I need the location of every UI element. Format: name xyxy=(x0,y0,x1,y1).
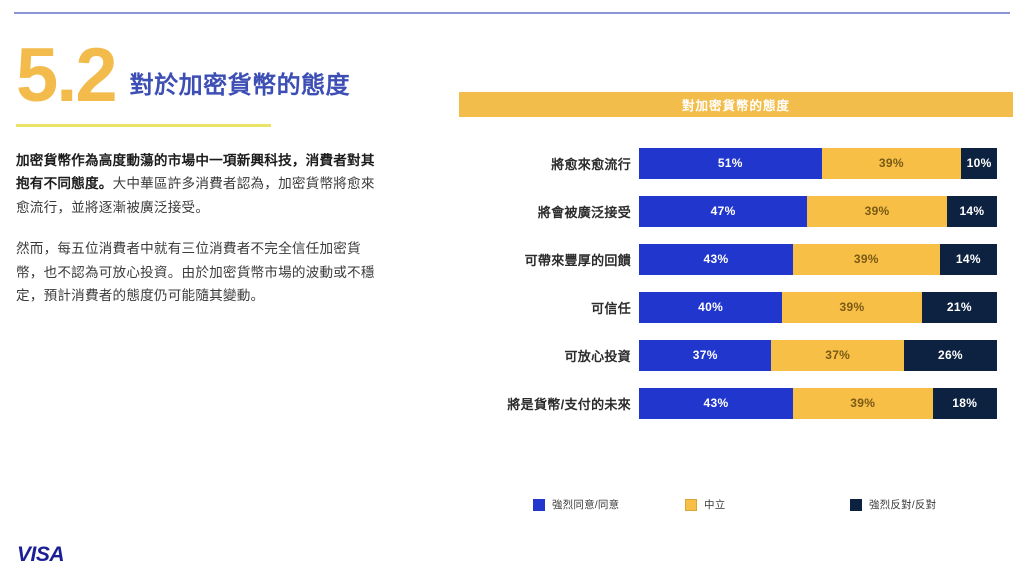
bar-segment-neutral: 39% xyxy=(807,196,947,227)
legend-swatch-icon xyxy=(533,499,545,511)
paragraph-1: 加密貨幣作為高度動蕩的市場中一項新興科技，消費者對其抱有不同態度。大中華區許多消… xyxy=(16,149,384,219)
legend-swatch-icon xyxy=(850,499,862,511)
visa-logo: VISA xyxy=(17,543,64,567)
bar-segment-agree: 43% xyxy=(639,388,793,419)
bar-segment-neutral: 39% xyxy=(793,244,940,275)
legend-item-neutral: 中立 xyxy=(685,497,850,512)
bar-segment-agree: 47% xyxy=(639,196,807,227)
bar-category-label: 將會被廣泛接受 xyxy=(459,202,639,221)
legend-label: 中立 xyxy=(704,497,725,512)
page-title: 對於加密貨幣的態度 xyxy=(130,65,351,110)
attitudes-chart: 對加密貨幣的態度 將愈來愈流行 51% 39% 10% 將會被廣泛接受 47% … xyxy=(459,92,1013,427)
bar-segment-neutral: 39% xyxy=(793,388,933,419)
bar-segment-disagree: 26% xyxy=(904,340,997,371)
bar-segment-disagree: 14% xyxy=(947,196,997,227)
table-row: 可信任 40% 39% 21% xyxy=(459,283,1013,331)
bar-segment-agree: 37% xyxy=(639,340,771,371)
stacked-bar: 43% 39% 14% xyxy=(639,244,997,275)
legend-label: 強烈同意/同意 xyxy=(552,497,619,512)
stacked-bar: 37% 37% 26% xyxy=(639,340,997,371)
bar-segment-agree: 40% xyxy=(639,292,782,323)
table-row: 將是貨幣/支付的未來 43% 39% 18% xyxy=(459,379,1013,427)
bar-category-label: 可帶來豐厚的回饋 xyxy=(459,250,639,269)
chart-title: 對加密貨幣的態度 xyxy=(459,92,1013,117)
bar-segment-disagree: 21% xyxy=(922,292,997,323)
chart-legend: 強烈同意/同意 中立 強烈反對/反對 xyxy=(533,497,936,512)
bar-segment-disagree: 10% xyxy=(961,148,997,179)
bar-segment-disagree: 14% xyxy=(940,244,997,275)
stacked-bar: 43% 39% 18% xyxy=(639,388,997,419)
table-row: 將愈來愈流行 51% 39% 10% xyxy=(459,139,1013,187)
table-row: 可帶來豐厚的回饋 43% 39% 14% xyxy=(459,235,1013,283)
body-text: 加密貨幣作為高度動蕩的市場中一項新興科技，消費者對其抱有不同態度。大中華區許多消… xyxy=(16,149,384,307)
bar-segment-neutral: 37% xyxy=(771,340,903,371)
chart-rows: 將愈來愈流行 51% 39% 10% 將會被廣泛接受 47% 39% 14% 可… xyxy=(459,139,1013,427)
legend-item-disagree: 強烈反對/反對 xyxy=(850,497,936,512)
bar-segment-disagree: 18% xyxy=(933,388,997,419)
slide-heading: 5.2 對於加密貨幣的態度 xyxy=(16,26,416,110)
bar-segment-neutral: 39% xyxy=(822,148,962,179)
legend-label: 強烈反對/反對 xyxy=(869,497,936,512)
bar-segment-neutral: 39% xyxy=(782,292,922,323)
legend-swatch-icon xyxy=(685,499,697,511)
stacked-bar: 51% 39% 10% xyxy=(639,148,997,179)
bar-category-label: 將是貨幣/支付的未來 xyxy=(459,394,639,413)
paragraph-2: 然而，每五位消費者中就有三位消費者不完全信任加密貨幣，也不認為可放心投資。由於加… xyxy=(16,237,384,307)
slide-root: { "slide": { "number": "5.2", "title": "… xyxy=(0,0,1024,574)
section-number: 5.2 xyxy=(16,42,116,110)
stacked-bar: 40% 39% 21% xyxy=(639,292,997,323)
bar-segment-agree: 43% xyxy=(639,244,793,275)
table-row: 將會被廣泛接受 47% 39% 14% xyxy=(459,187,1013,235)
bar-category-label: 可放心投資 xyxy=(459,346,639,365)
table-row: 可放心投資 37% 37% 26% xyxy=(459,331,1013,379)
bar-category-label: 可信任 xyxy=(459,298,639,317)
stacked-bar: 47% 39% 14% xyxy=(639,196,997,227)
bar-category-label: 將愈來愈流行 xyxy=(459,154,639,173)
left-content-column: 5.2 對於加密貨幣的態度 加密貨幣作為高度動蕩的市場中一項新興科技，消費者對其… xyxy=(16,26,416,325)
bar-segment-agree: 51% xyxy=(639,148,822,179)
title-underline xyxy=(16,124,271,127)
top-divider xyxy=(14,12,1010,14)
legend-item-agree: 強烈同意/同意 xyxy=(533,497,685,512)
